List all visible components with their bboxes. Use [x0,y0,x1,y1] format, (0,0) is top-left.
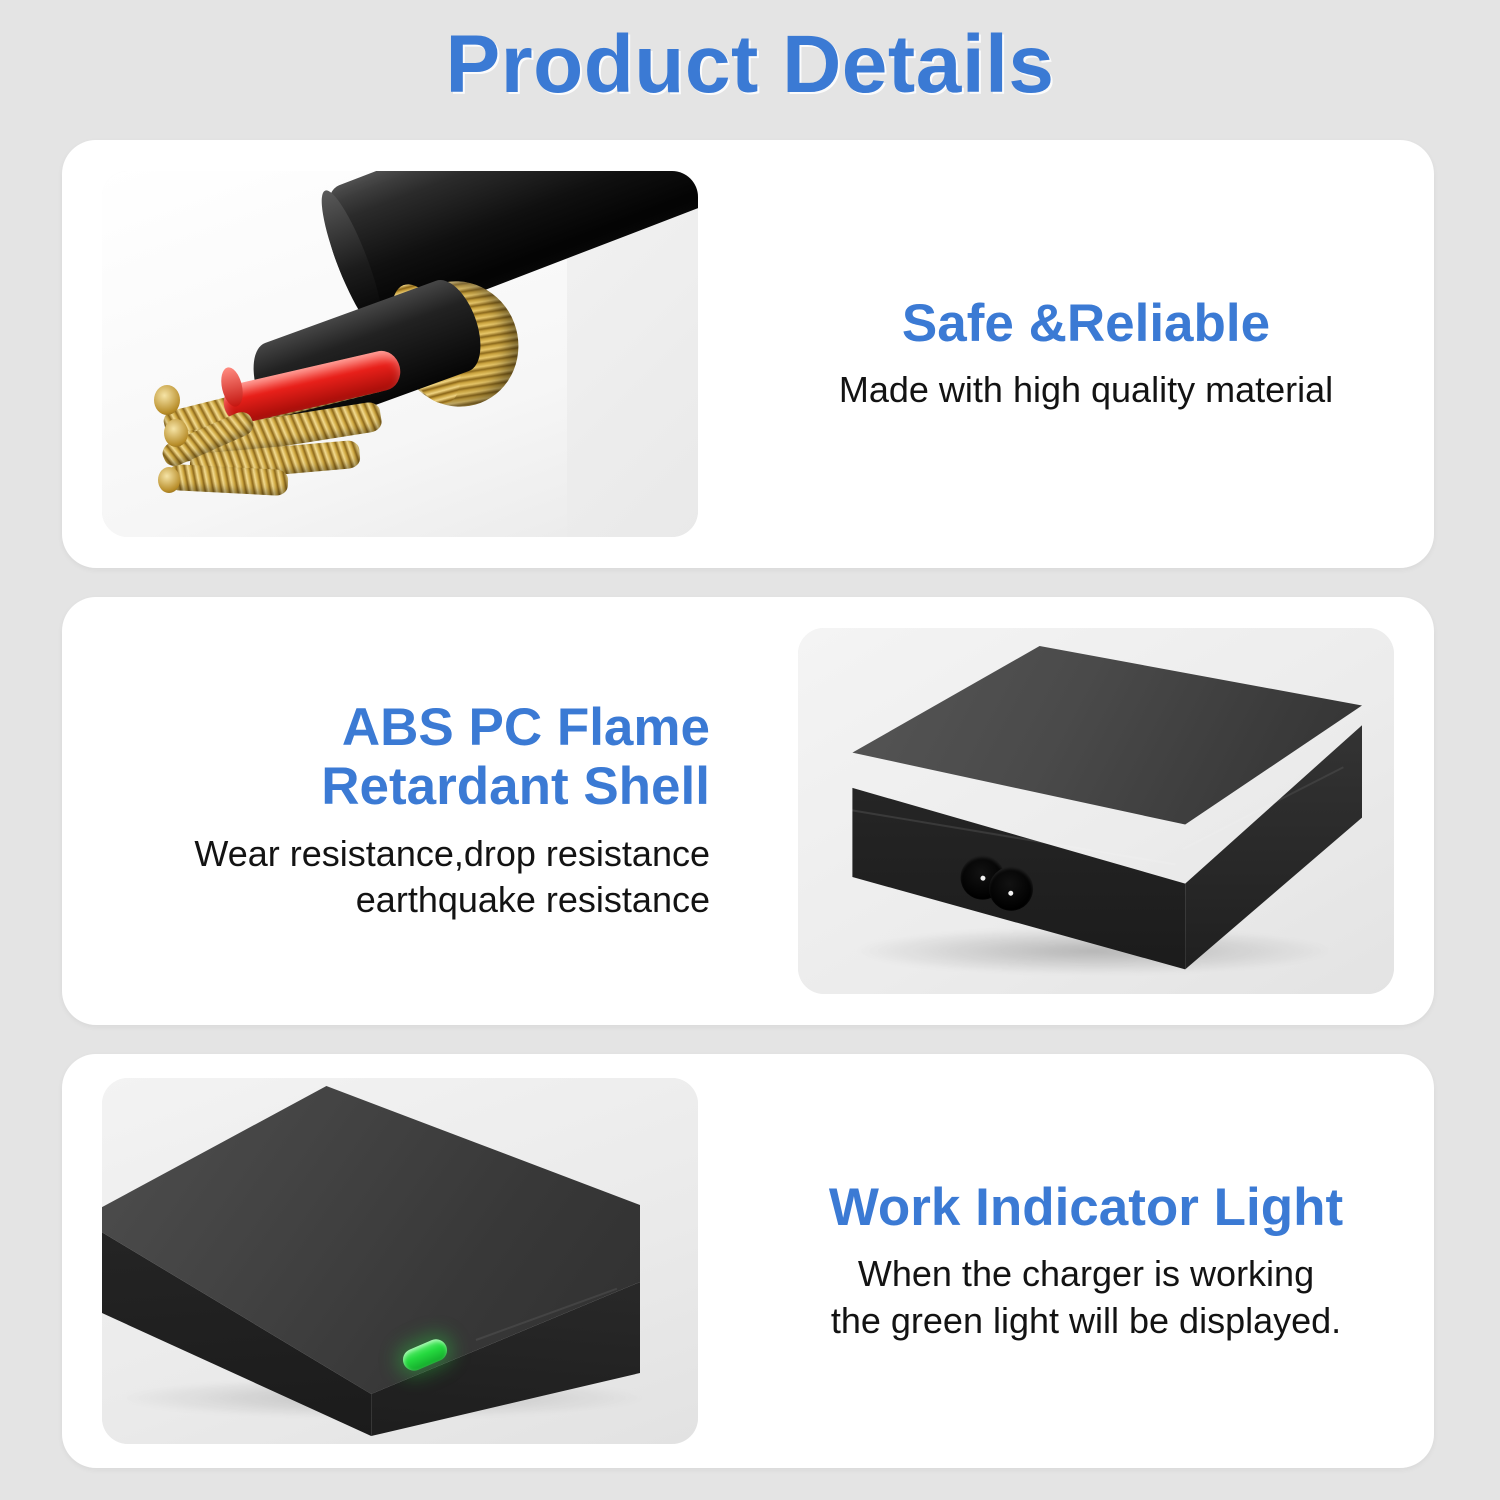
feature-copy-safe-reliable: Safe &Reliable Made with high quality ma… [738,294,1434,414]
feature-card-safe-reliable: Safe &Reliable Made with high quality ma… [62,140,1434,568]
cable-strand-end [158,467,180,493]
feature-description: When the charger is working the green li… [786,1251,1386,1345]
feature-copy-work-indicator-light: Work Indicator Light When the charger is… [738,1178,1434,1345]
cable-illustration [102,171,698,537]
feature-description: Made with high quality material [786,367,1386,414]
feature-card-work-indicator-light: Work Indicator Light When the charger is… [62,1054,1434,1468]
feature-title: Safe &Reliable [786,294,1386,353]
product-image-adapter-brick [798,628,1394,994]
indicator-light-illustration [102,1078,698,1444]
feature-title: ABS PC Flame Retardant Shell [110,698,710,817]
feature-title: Work Indicator Light [786,1178,1386,1237]
product-image-indicator-light [102,1078,698,1444]
adapter-brick-illustration [798,628,1394,994]
product-image-cable [102,171,698,537]
adapter-corner-body [102,1086,640,1436]
adapter-brick-body [842,646,1362,976]
cable-strand-end [164,419,188,447]
cable-strand-end [154,385,180,415]
feature-description: Wear resistance,drop resistance earthqua… [110,831,710,925]
feature-copy-flame-retardant-shell: ABS PC Flame Retardant Shell Wear resist… [62,698,758,924]
feature-card-flame-retardant-shell: ABS PC Flame Retardant Shell Wear resist… [62,597,1434,1025]
product-details-page: Product Details [0,0,1500,1500]
page-title: Product Details [0,22,1500,108]
